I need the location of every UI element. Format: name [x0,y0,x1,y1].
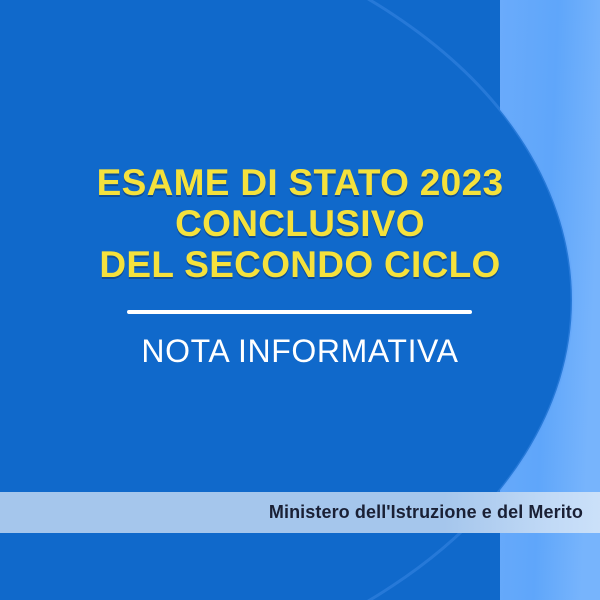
poster-subtitle: NOTA INFORMATIVA [0,332,600,370]
title-line-2: CONCLUSIVO [0,203,600,244]
poster-canvas: ESAME DI STATO 2023 CONCLUSIVO DEL SECON… [0,0,600,600]
footer-band: Ministero dell'Istruzione e del Merito [0,492,600,533]
title-line-1: ESAME DI STATO 2023 [0,162,600,203]
poster-title: ESAME DI STATO 2023 CONCLUSIVO DEL SECON… [0,162,600,285]
title-line-3: DEL SECONDO CICLO [0,244,600,285]
ministry-name: Ministero dell'Istruzione e del Merito [269,502,600,523]
title-divider [127,310,472,314]
